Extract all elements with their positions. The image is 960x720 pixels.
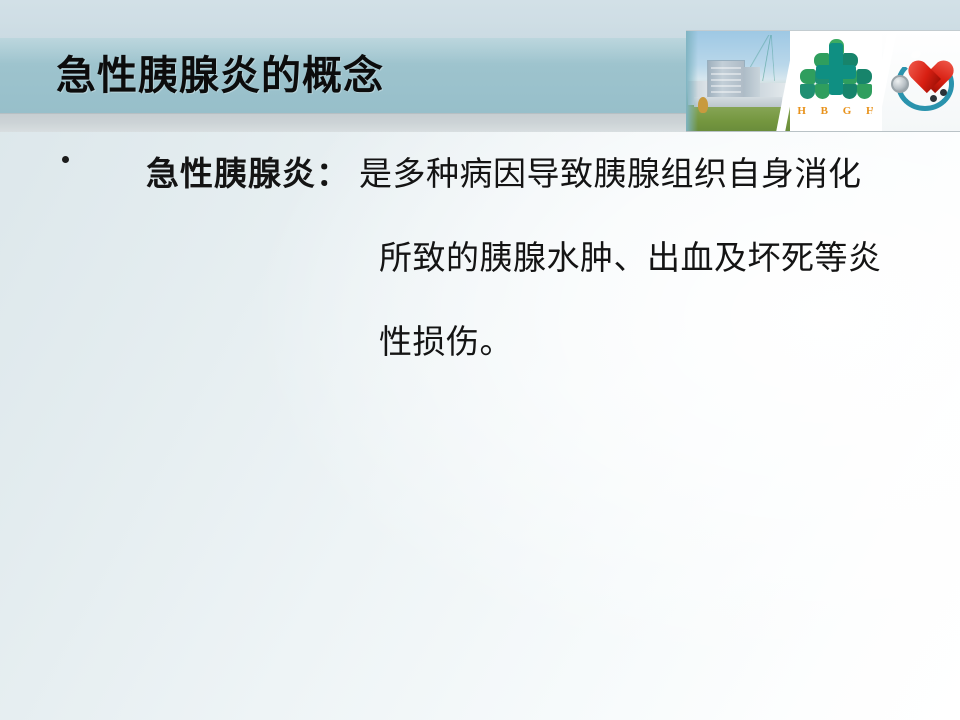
stethoscope-chestpiece (891, 75, 909, 93)
logo-letter-2: B (821, 105, 828, 117)
term-colon: ： (316, 154, 349, 193)
bullet-point-marker (62, 156, 69, 163)
stethoscope-earpiece-1 (930, 95, 937, 102)
page-title: 急性胰腺炎的概念 (56, 43, 384, 109)
logo-mark (796, 37, 876, 109)
definition-line-3: 性损伤。 (146, 300, 930, 384)
hospital-building-photo (686, 31, 790, 131)
slide-body: 急性胰腺炎：是多种病因导致胰腺组织自身消化 所致的胰腺水肿、出血及坏死等炎 性损… (0, 132, 960, 384)
logo-letter-3: G (843, 105, 852, 117)
definition-line-2: 所致的胰腺水肿、出血及坏死等炎 (146, 216, 930, 300)
bullet-paragraph: 急性胰腺炎：是多种病因导致胰腺组织自身消化 所致的胰腺水肿、出血及坏死等炎 性损… (0, 132, 960, 384)
slide-canvas: 急性胰腺炎的概念 (0, 0, 960, 720)
art-left-edge-fade (686, 31, 698, 131)
definition-paragraph: 急性胰腺炎：是多种病因导致胰腺组织自身消化 所致的胰腺水肿、出血及坏死等炎 性损… (58, 132, 960, 384)
cross-vertical-bar (829, 43, 843, 95)
heart-icon (902, 47, 940, 81)
definition-line-1: 是多种病因导致胰腺组织自身消化 (359, 154, 862, 193)
definition-first-line: 急性胰腺炎：是多种病因导致胰腺组织自身消化 (146, 154, 862, 193)
hbgh-logo: H B G H (790, 31, 882, 131)
logo-letter-1: H (797, 105, 806, 117)
tree (698, 97, 708, 113)
logo-letters: H B G H (790, 105, 882, 117)
stethoscope-earpiece-2 (940, 89, 947, 96)
term-label: 急性胰腺炎 (146, 154, 316, 193)
header-art-strip: H B G H (686, 30, 960, 132)
